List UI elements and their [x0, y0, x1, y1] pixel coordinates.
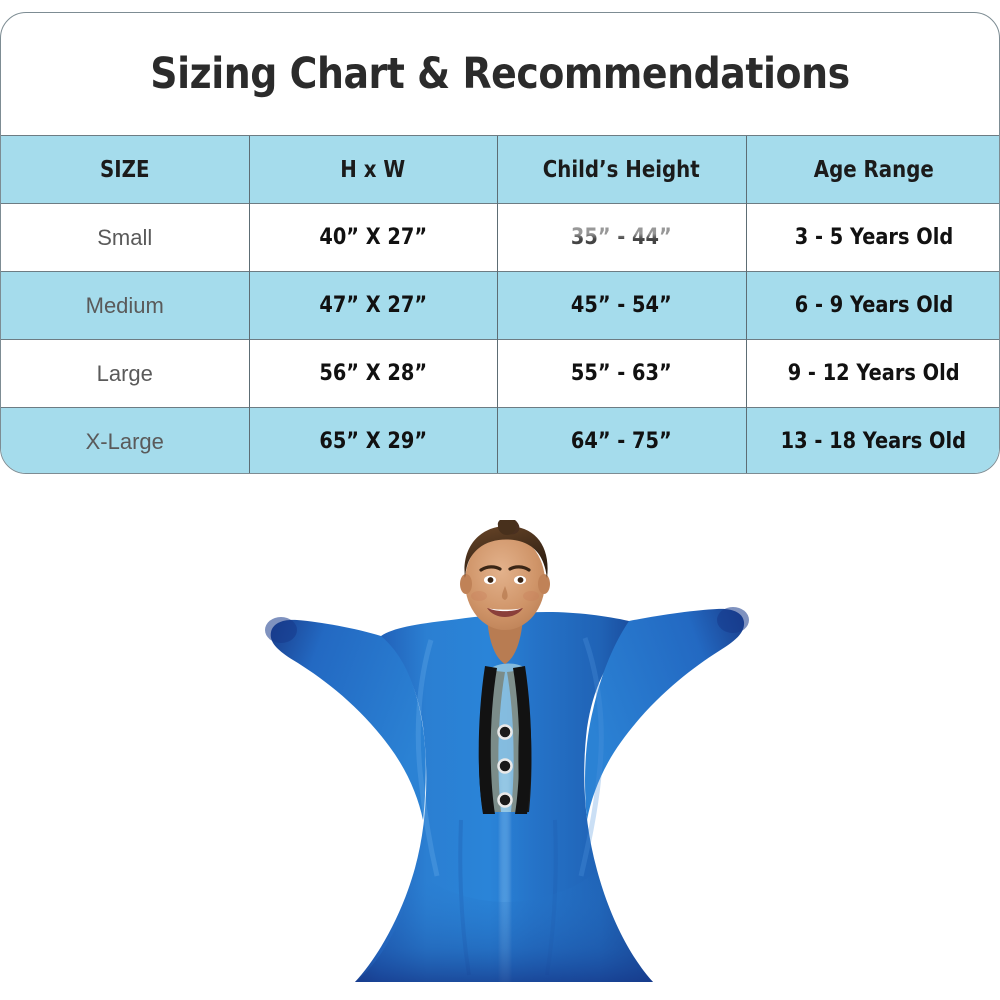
table-row: Medium 47” X 27” 45” - 54” 6 - 9 Years O…	[1, 272, 1000, 340]
column-header-child-height-label: Child’s Height	[543, 157, 700, 183]
cell-age-range: 6 - 9 Years Old	[746, 272, 1000, 340]
cell-child-height: 35” - 44”	[497, 204, 746, 272]
cell-age-range: 9 - 12 Years Old	[746, 340, 1000, 408]
sack-left-arm-tip	[265, 617, 297, 643]
page-title: Sizing Chart & Recommendations	[61, 13, 939, 135]
column-header-age-range-label: Age Range	[814, 157, 934, 183]
cardigan-button	[499, 726, 512, 739]
table-row: Small 40” X 27” 35” - 44” 3 - 5 Years Ol…	[1, 204, 1000, 272]
cell-dimensions: 47” X 27”	[249, 272, 497, 340]
product-photo-sensory-body-sock	[255, 520, 755, 990]
table-header-row: SIZE H x W Child’s Height Age Range	[1, 136, 1000, 204]
cell-age-range: 3 - 5 Years Old	[746, 204, 1000, 272]
sizing-chart-card: Sizing Chart & Recommendations SIZE H x …	[0, 12, 1000, 474]
column-header-child-height: Child’s Height	[497, 136, 746, 204]
cell-size: Medium	[1, 272, 249, 340]
cardigan-button	[499, 794, 512, 807]
cell-child-height: 45” - 54”	[497, 272, 746, 340]
ear-left	[460, 574, 472, 594]
sizing-chart-page: Sizing Chart & Recommendations SIZE H x …	[0, 0, 1000, 1000]
pupil-right	[518, 577, 524, 583]
cell-size: Large	[1, 340, 249, 408]
cheek-left	[471, 591, 487, 601]
cheek-right	[523, 591, 539, 601]
column-header-age-range: Age Range	[746, 136, 1000, 204]
cell-dimensions: 40” X 27”	[249, 204, 497, 272]
table-row: Large 56” X 28” 55” - 63” 9 - 12 Years O…	[1, 340, 1000, 408]
cardigan-button	[499, 760, 512, 773]
sizing-table: SIZE H x W Child’s Height Age Range Smal…	[1, 135, 1000, 474]
table-row: X-Large 65” X 29” 64” - 75” 13 - 18 Year…	[1, 408, 1000, 475]
ear-right	[538, 574, 550, 594]
cell-dimensions: 56” X 28”	[249, 340, 497, 408]
cell-child-height: 64” - 75”	[497, 408, 746, 475]
cell-size: Small	[1, 204, 249, 272]
column-header-size: SIZE	[1, 136, 249, 204]
sack-right-arm-tip	[717, 607, 749, 633]
cell-dimensions: 65” X 29”	[249, 408, 497, 475]
pupil-left	[488, 577, 494, 583]
column-header-size-label: SIZE	[100, 157, 149, 183]
cell-size: X-Large	[1, 408, 249, 475]
body-sock-illustration	[255, 520, 755, 990]
column-header-dimensions-label: H x W	[341, 157, 406, 183]
column-header-dimensions: H x W	[249, 136, 497, 204]
cell-child-height: 55” - 63”	[497, 340, 746, 408]
cell-age-range: 13 - 18 Years Old	[746, 408, 1000, 475]
